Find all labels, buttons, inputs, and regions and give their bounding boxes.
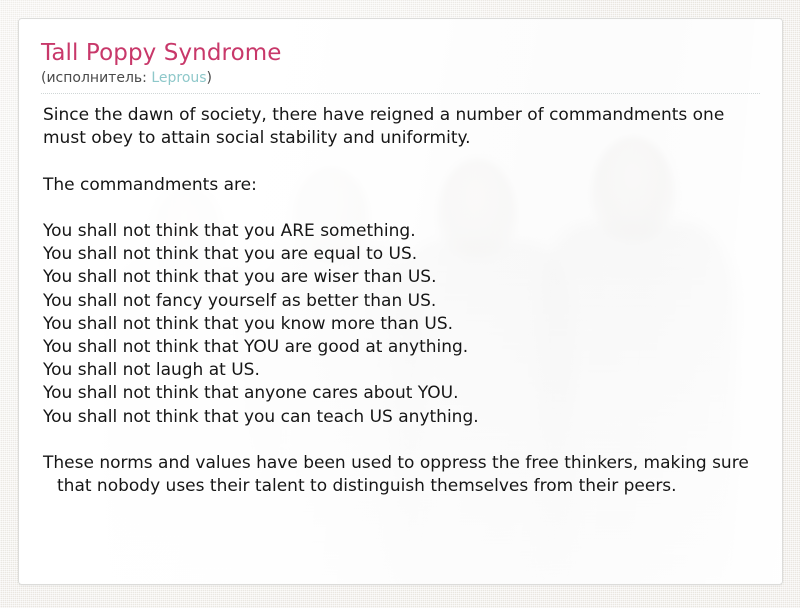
byline-prefix-label: (исполнитель: [41,70,151,86]
lyric-spacer [43,197,760,220]
lyric-line: You shall not think that you are equal t… [43,243,760,266]
lyric-line: You shall not fancy yourself as better t… [43,290,760,313]
artist-byline: (исполнитель: Leprous) [41,69,760,88]
song-header: Tall Poppy Syndrome (исполнитель: Leprou… [41,39,760,94]
lyric-spacer [43,429,760,452]
lyric-line: You shall not think that YOU are good at… [43,336,760,359]
lyrics-text: Since the dawn of society, there have re… [41,104,760,498]
lyric-line: The commandments are: [43,174,760,197]
lyric-line: You shall not think that anyone cares ab… [43,382,760,405]
lyric-line: You shall not think that you ARE somethi… [43,220,760,243]
lyric-line: You shall not think that you can teach U… [43,406,760,429]
lyric-line: You shall not laugh at US. [43,359,760,382]
byline-suffix-label: ) [207,70,212,86]
lyric-line: You shall not think that you know more t… [43,313,760,336]
lyric-line: These norms and values have been used to… [43,452,760,498]
lyrics-card: Tall Poppy Syndrome (исполнитель: Leprou… [18,18,783,585]
lyric-line: You shall not think that you are wiser t… [43,266,760,289]
lyric-spacer [43,150,760,173]
lyric-line: Since the dawn of society, there have re… [43,104,760,150]
artist-link[interactable]: Leprous [151,70,206,86]
card-content: Tall Poppy Syndrome (исполнитель: Leprou… [19,19,782,498]
page-title: Tall Poppy Syndrome [41,39,760,67]
